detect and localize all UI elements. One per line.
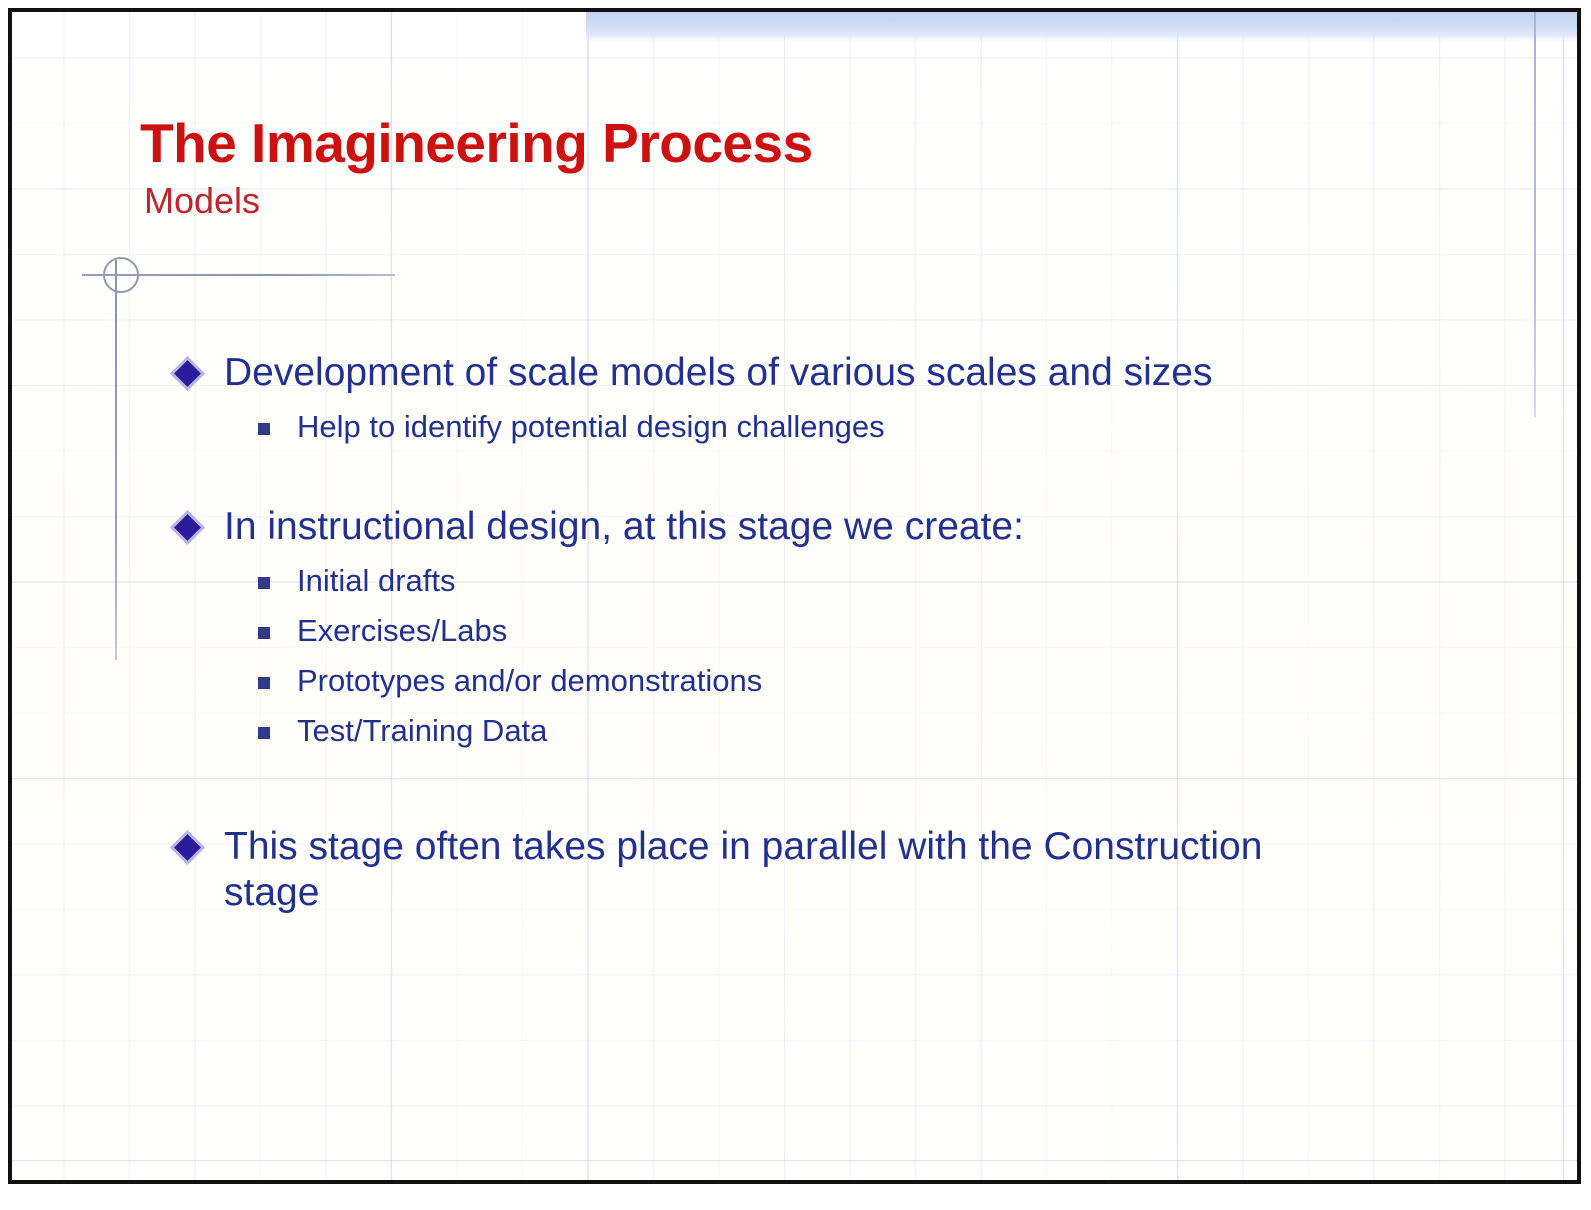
- list-item: Development of scale models of various s…: [172, 350, 1512, 396]
- right-vertical-rule: [1534, 12, 1536, 417]
- diamond-bullet-icon: [172, 350, 224, 396]
- square-bullet-icon: [254, 612, 297, 650]
- diamond-bullet-icon: [172, 824, 224, 870]
- sub-list-item: Test/Training Data: [254, 712, 1512, 750]
- sub-list-item: Initial drafts: [254, 562, 1512, 600]
- sub-list-item-label: Initial drafts: [297, 562, 1512, 599]
- square-bullet-icon: [254, 562, 297, 600]
- square-bullet-icon: [254, 712, 297, 750]
- list-item: In instructional design, at this stage w…: [172, 504, 1512, 550]
- left-vertical-rule: [115, 260, 117, 660]
- bullet-group: Development of scale models of various s…: [172, 350, 1512, 446]
- sub-list-item: Prototypes and/or demonstrations: [254, 662, 1512, 700]
- slide-frame: The Imagineering Process Models Developm…: [8, 8, 1581, 1184]
- sub-list-item-label: Prototypes and/or demonstrations: [297, 662, 1512, 699]
- bullet-group: This stage often takes place in parallel…: [172, 824, 1512, 916]
- sub-list-item: Exercises/Labs: [254, 612, 1512, 650]
- diamond-bullet-icon: [172, 504, 224, 550]
- list-item-label: Development of scale models of various s…: [224, 350, 1352, 396]
- list-item: This stage often takes place in parallel…: [172, 824, 1512, 916]
- page-subtitle: Models: [144, 183, 1340, 219]
- square-bullet-icon: [254, 662, 297, 700]
- list-item-label: This stage often takes place in parallel…: [224, 824, 1352, 916]
- spacer: [172, 446, 1512, 504]
- bullet-group: In instructional design, at this stage w…: [172, 504, 1512, 750]
- list-item-label: In instructional design, at this stage w…: [224, 504, 1352, 550]
- sub-list-item-label: Exercises/Labs: [297, 612, 1512, 649]
- square-bullet-icon: [254, 408, 297, 446]
- title-block: The Imagineering Process Models: [140, 116, 1340, 219]
- body-content: Development of scale models of various s…: [172, 350, 1512, 918]
- spacer: [172, 750, 1512, 824]
- top-accent-band: [586, 12, 1581, 42]
- page-title: The Imagineering Process: [140, 116, 1340, 171]
- sub-list-item-label: Help to identify potential design challe…: [297, 408, 1512, 445]
- sub-list-item-label: Test/Training Data: [297, 712, 1512, 749]
- sub-list-item: Help to identify potential design challe…: [254, 408, 1512, 446]
- decorative-circle-icon: [103, 257, 139, 293]
